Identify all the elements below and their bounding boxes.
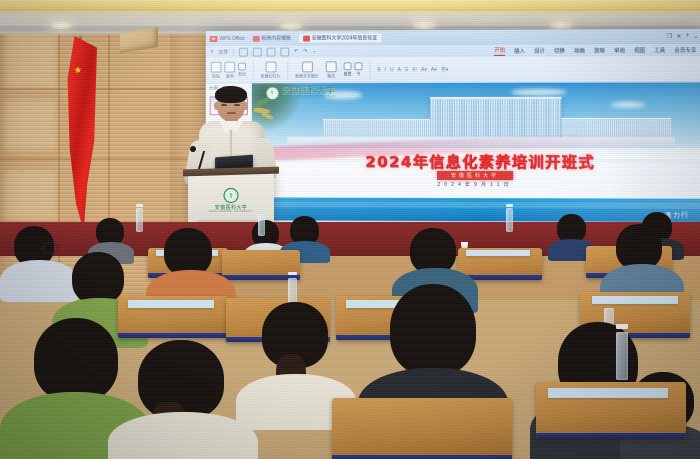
audience-person: [108, 340, 258, 459]
cut-button[interactable]: 剪切: [238, 63, 246, 78]
presentation-icon: [303, 35, 310, 41]
section-button[interactable]: 节: [354, 62, 362, 77]
new-slide-button[interactable]: 新建幻灯片: [261, 61, 281, 79]
slide-subtitle: 安徽医科大学: [437, 171, 513, 181]
file-menu-button[interactable]: 文件: [218, 48, 228, 55]
podium-university-cn: 安徽医科大学: [215, 204, 247, 211]
audience-area: [0, 222, 700, 459]
ribbon-toolbar: 粘贴 复制 剪切 新建幻灯片 新建文字图片: [206, 56, 700, 83]
paste-icon: [211, 61, 222, 72]
bottle-cap: [136, 204, 143, 207]
redo-icon[interactable]: ↷: [303, 49, 307, 55]
chair-trim: [536, 433, 686, 438]
ribbon-tab-view[interactable]: 视图: [634, 46, 645, 54]
chevron-down-icon[interactable]: ⌄: [693, 33, 698, 40]
new-slide-label: 新建幻灯片: [261, 73, 281, 79]
font-format-group: B I U A S X² A▾ A▾ 字▾: [377, 66, 448, 73]
ribbon-tab-animation[interactable]: 动画: [574, 47, 585, 55]
wps-tab-label: 安徽医科大学2024年信息化证: [312, 34, 377, 41]
divider: [369, 61, 370, 79]
ribbon-tab-tools[interactable]: 工具: [654, 46, 665, 54]
water-bottle: [136, 208, 143, 232]
water-bottle: [616, 332, 628, 380]
template-icon: [253, 35, 260, 41]
slide-canvas[interactable]: ⚕ 安徽医科大学 ANHUI MEDICAL UNIVERSITY 2024年信…: [252, 82, 700, 221]
downlight-icon: [280, 22, 302, 30]
text-image-icon: [302, 61, 313, 72]
font-color-button[interactable]: A▾: [421, 67, 427, 73]
ribbon-tab-member[interactable]: 会员专享: [674, 46, 696, 54]
downlight-icon: [413, 21, 435, 29]
downlight-icon: [550, 21, 572, 29]
copy-icon: [224, 61, 235, 72]
person-head: [72, 252, 124, 304]
save-icon[interactable]: [239, 47, 248, 56]
downlight-icon: [50, 21, 72, 29]
section-icon: [354, 62, 362, 70]
ribbon-tab-insert[interactable]: 插入: [514, 47, 525, 55]
cut-label: 剪切: [238, 72, 246, 78]
ribbon-tab-design[interactable]: 设计: [534, 47, 545, 55]
section-group: 重置 节: [344, 62, 363, 77]
clipboard-group: 粘贴 复制 剪切: [211, 61, 246, 79]
layout-label: 版式: [327, 73, 335, 79]
ceiling-cove-light: [0, 0, 700, 11]
print-icon[interactable]: [267, 47, 276, 56]
divider: [233, 48, 234, 55]
restore-icon[interactable]: ❐: [667, 33, 672, 40]
superscript-button[interactable]: X²: [412, 67, 417, 73]
speaker-eye: [234, 104, 240, 106]
layout-button[interactable]: 版式: [326, 61, 337, 79]
podium-top-surface: [183, 167, 279, 177]
search-icon[interactable]: [253, 47, 262, 56]
wps-logo-icon: W: [210, 35, 218, 41]
handout-paper: [128, 300, 214, 308]
panel-highlight: [4, 30, 56, 88]
new-tab-icon[interactable]: +: [686, 33, 690, 40]
chevron-down-icon[interactable]: ⌄: [312, 48, 316, 54]
close-icon[interactable]: ✕: [676, 33, 681, 40]
underline-button[interactable]: U: [390, 67, 394, 73]
tab-bar-controls: ❐ ✕ + ⌄: [667, 33, 699, 40]
person-head: [164, 228, 212, 276]
bold-button[interactable]: B: [377, 67, 380, 73]
strikethrough-button[interactable]: S: [405, 67, 408, 73]
bottle-cap: [616, 324, 628, 329]
shadow-button[interactable]: A: [398, 67, 401, 73]
text-image-button[interactable]: 新建文字图片: [295, 61, 319, 79]
scissors-icon: [238, 63, 246, 71]
section-label: 节: [356, 71, 360, 77]
university-name-en: ANHUI MEDICAL UNIVERSITY: [282, 96, 337, 99]
person-shoulders: [108, 412, 258, 459]
cloud: [511, 88, 566, 95]
speaker-eye: [221, 104, 227, 106]
chair-trim: [332, 455, 512, 459]
ribbon-tab-transition[interactable]: 切换: [554, 47, 565, 55]
paste-button[interactable]: 粘贴: [211, 61, 222, 79]
divider: [287, 61, 288, 79]
speaker-hair: [215, 86, 247, 103]
paste-label: 粘贴: [212, 73, 220, 79]
speaker-ear: [243, 102, 248, 110]
podium-emblem-icon: ⚕: [224, 188, 239, 203]
reset-icon: [344, 62, 352, 70]
ribbon-tab-slideshow[interactable]: 放映: [594, 46, 605, 54]
slide-title: 2024年信息化素养培训开班式: [274, 150, 689, 172]
reset-button[interactable]: 重置: [344, 62, 352, 77]
speaker-mouth: [227, 112, 236, 114]
copy-button[interactable]: 复制: [224, 61, 235, 79]
undo-icon[interactable]: ↶: [294, 49, 298, 55]
layout-icon: [326, 61, 337, 72]
wps-app-name: WPS Office: [219, 35, 244, 41]
ribbon-tab-home[interactable]: 开始: [494, 46, 505, 56]
campus-building-main: [430, 97, 561, 141]
wps-tab-presentation[interactable]: 安徽医科大学2024年信息化证: [299, 33, 381, 42]
panel-highlight: [4, 100, 56, 150]
slide-date: 2024年9月11日: [437, 181, 512, 188]
university-name-block: 安徽医科大学 ANHUI MEDICAL UNIVERSITY: [282, 87, 337, 98]
character-style-button[interactable]: 字▾: [441, 66, 449, 73]
handout-paper: [548, 388, 668, 398]
wps-tab-templates[interactable]: 稻壳内容模板: [249, 34, 295, 43]
microphone-icon: [190, 146, 196, 152]
panel-highlight: [4, 170, 56, 220]
ribbon-tab-review[interactable]: 审阅: [614, 46, 625, 54]
person-head: [390, 284, 476, 376]
divider: [253, 61, 254, 79]
water-bottle: [258, 214, 265, 236]
cloud-icon[interactable]: [280, 47, 289, 56]
podium-university-en: ANHUI MEDICAL UNIVERSITY: [209, 211, 253, 213]
flag-star-icon: ★: [73, 65, 82, 75]
bottle-cap: [506, 204, 513, 207]
bottle-cap: [288, 272, 297, 275]
ribbon-tab-strip: 开始 插入 设计 切换 动画 放映 审阅 视图 工具 会员专享: [494, 44, 700, 57]
text-highlight-button[interactable]: A▾: [431, 67, 437, 73]
italic-button[interactable]: I: [385, 67, 386, 73]
text-image-label: 新建文字图片: [295, 73, 319, 79]
band-highlight: [252, 202, 700, 210]
wps-tab-label: 稻壳内容模板: [261, 35, 291, 42]
reset-label: 重置: [344, 71, 352, 77]
person-head: [34, 318, 118, 402]
hamburger-icon[interactable]: ≡: [211, 49, 214, 55]
speaker-ear: [214, 102, 219, 110]
water-bottle: [506, 208, 513, 232]
photo-scene: ★ W WPS Office 稻壳内容模板 安徽医科大学2024年信息化证 ❐ …: [0, 0, 700, 459]
wps-office-logo: W WPS Office: [210, 35, 245, 41]
copy-label: 复制: [226, 73, 234, 79]
handout-paper: [592, 296, 678, 304]
new-slide-icon: [265, 61, 276, 72]
chair-back: [332, 398, 512, 459]
